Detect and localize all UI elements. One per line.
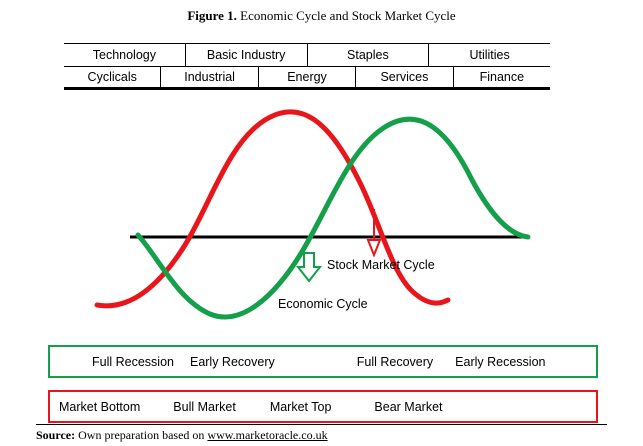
page-title: Figure 1. Economic Cycle and Stock Marke… xyxy=(0,8,643,24)
source-link[interactable]: www.marketoracle.co.uk xyxy=(207,428,327,442)
stock-market-cycle-label: Stock Market Cycle xyxy=(327,258,435,272)
figure-label: Figure 1. xyxy=(187,8,237,23)
source-label: Source: xyxy=(36,428,75,442)
sector-cell-staples: Staples xyxy=(307,44,429,66)
sector-row-bottom: Cyclicals Industrial Energy Services Fin… xyxy=(64,67,550,90)
sector-row-top: Technology Basic Industry Staples Utilit… xyxy=(64,43,550,67)
market-phase-bar: Market Bottom Bull Market Market Top Bea… xyxy=(48,390,598,423)
phase-market-top: Market Top xyxy=(270,400,332,414)
cycle-chart xyxy=(60,95,560,330)
phase-full-recession: Full Recession xyxy=(92,355,174,369)
sector-cell-energy: Energy xyxy=(258,67,355,87)
phase-bull-market: Bull Market xyxy=(173,400,236,414)
economic-cycle-curve xyxy=(138,119,528,317)
phase-early-recession: Early Recession xyxy=(455,355,545,369)
economic-phase-bar: Full Recession Early Recovery Full Recov… xyxy=(48,345,598,378)
phase-bear-market: Bear Market xyxy=(374,400,442,414)
sector-cell-industrial: Industrial xyxy=(160,67,257,87)
sector-cell-services: Services xyxy=(355,67,452,87)
phase-full-recovery: Full Recovery xyxy=(357,355,433,369)
economic-cycle-label: Economic Cycle xyxy=(278,297,368,311)
stock-market-cycle-curve xyxy=(97,112,448,306)
sector-cell-technology: Technology xyxy=(64,44,185,66)
phase-early-recovery: Early Recovery xyxy=(190,355,275,369)
sector-cell-cyclicals: Cyclicals xyxy=(64,67,160,87)
sector-cell-finance: Finance xyxy=(453,67,550,87)
sector-table: Technology Basic Industry Staples Utilit… xyxy=(64,43,550,90)
figure-title-text: Economic Cycle and Stock Market Cycle xyxy=(237,8,456,23)
source-text: Own preparation based on xyxy=(75,428,207,442)
source-divider xyxy=(36,424,607,425)
sector-cell-utilities: Utilities xyxy=(428,44,550,66)
phase-market-bottom: Market Bottom xyxy=(59,400,140,414)
source-note: Source: Own preparation based on www.mar… xyxy=(36,428,328,443)
figure-page: Figure 1. Economic Cycle and Stock Marke… xyxy=(0,0,643,446)
sector-cell-basic-industry: Basic Industry xyxy=(185,44,307,66)
